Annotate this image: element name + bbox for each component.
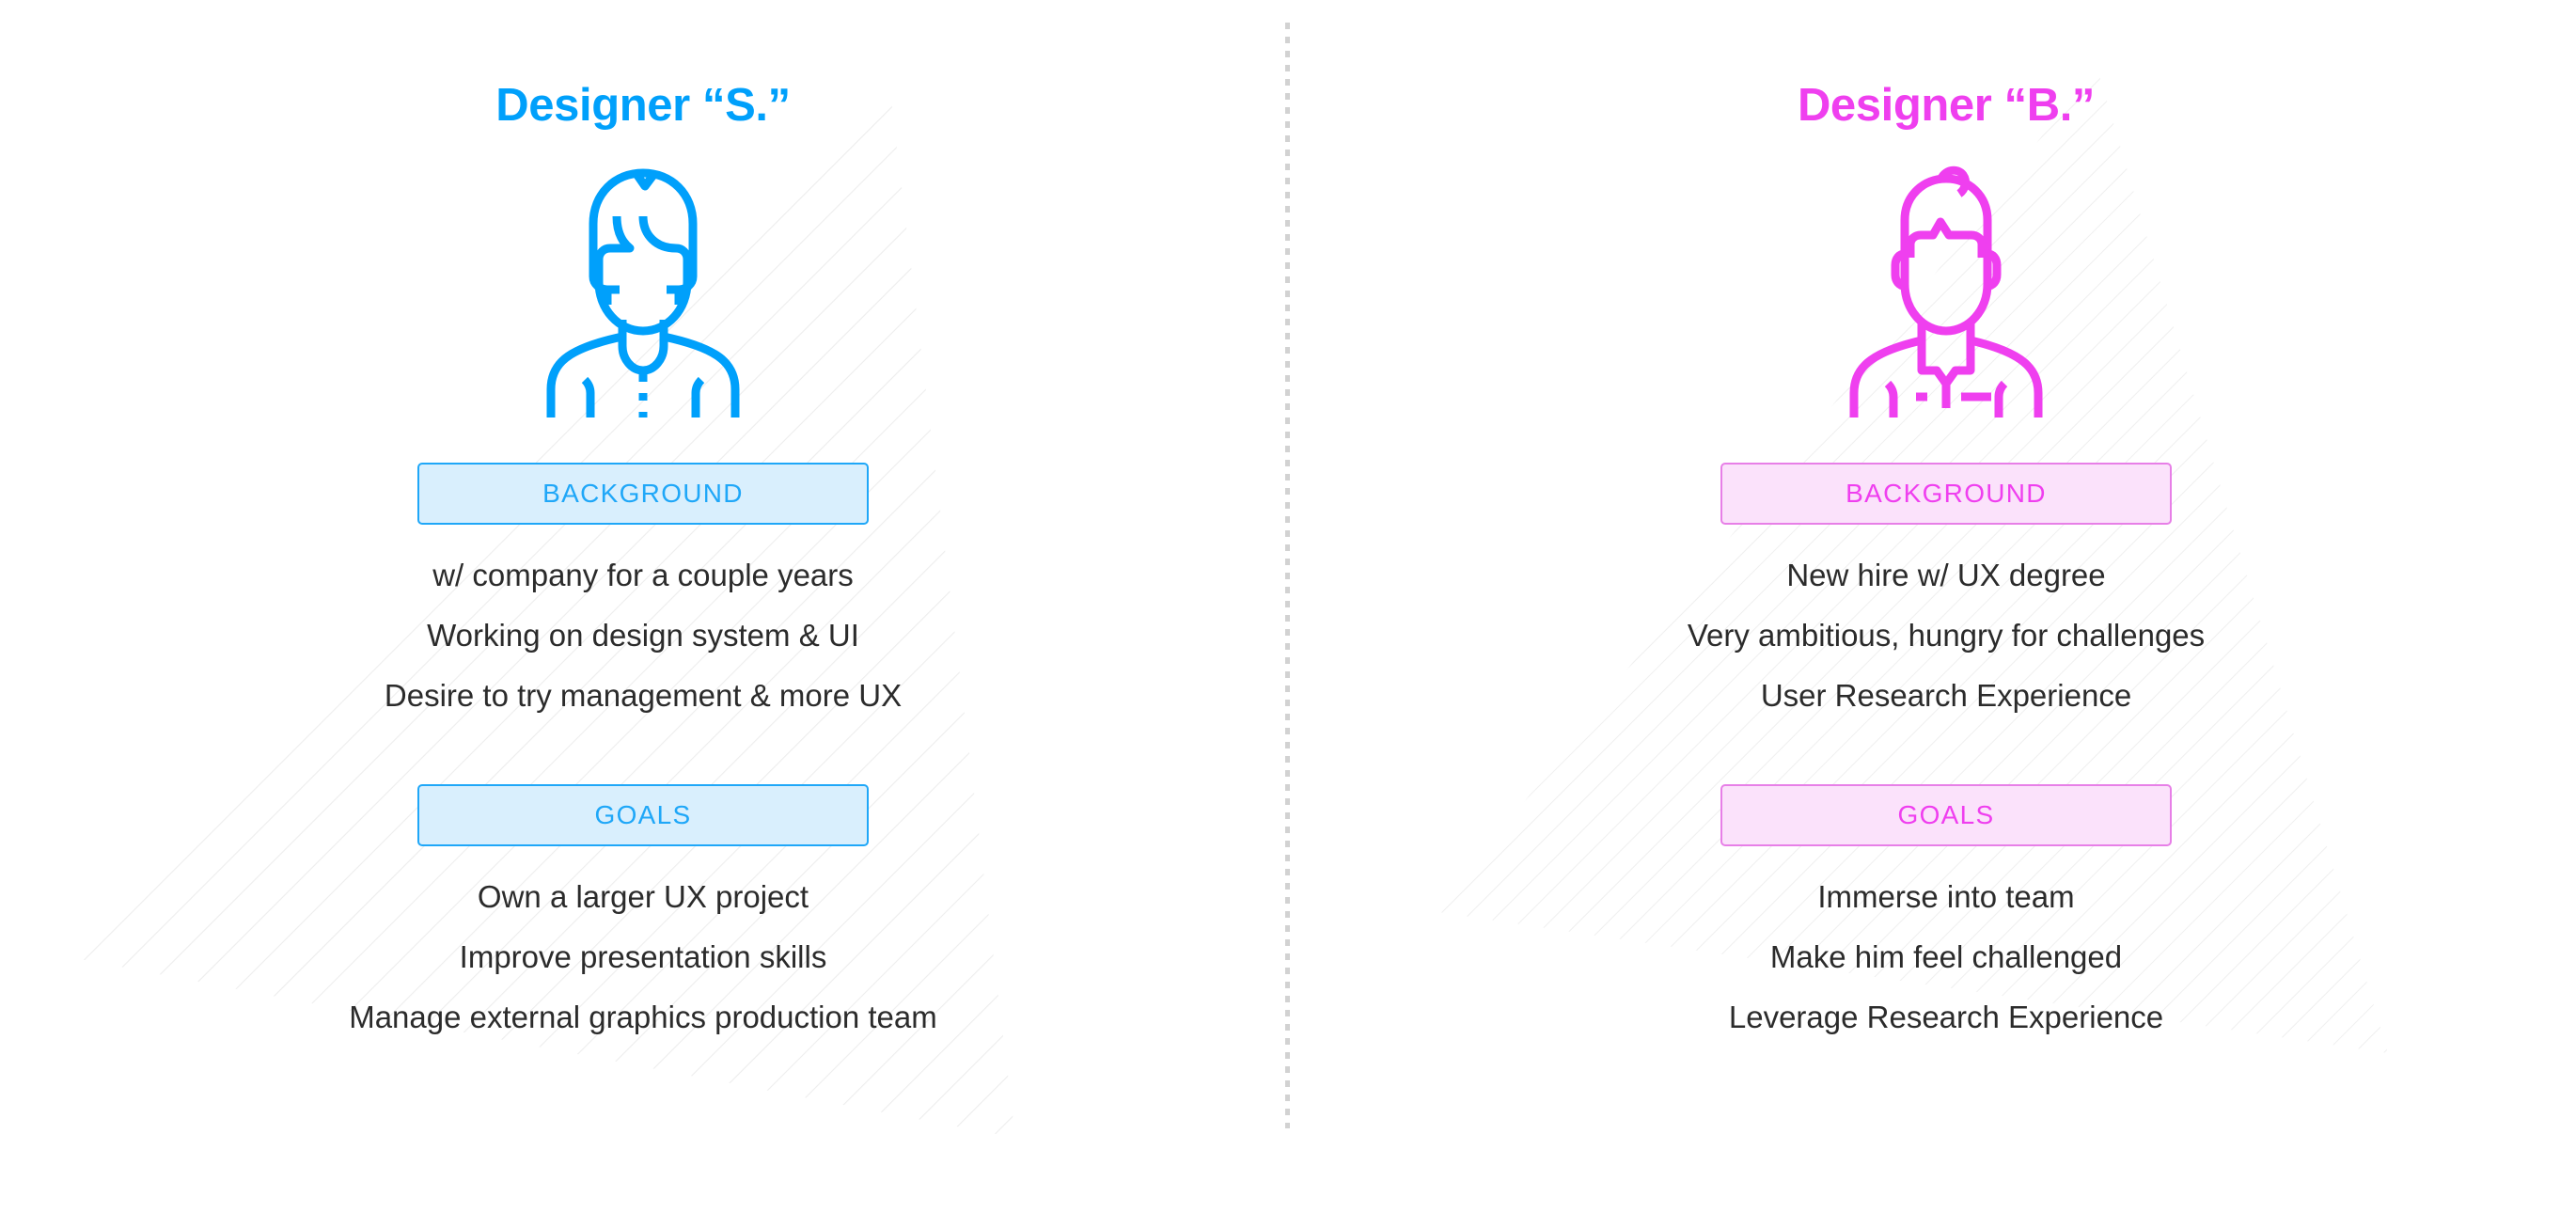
section-chip-label: GOALS [595,800,692,830]
persona-title-designer-b: Designer “B.” [1798,83,2095,129]
list-item: Immerse into team [1817,867,2074,927]
list-item: New hire w/ UX degree [1786,545,2105,606]
persona-column-designer-b: Designer “B.” [1316,0,2576,1213]
goals-list-left: Own a larger UX project Improve presenta… [349,867,937,1048]
list-item: User Research Experience [1761,666,2131,726]
list-item: Desire to try management & more UX [385,666,902,726]
background-list-right: New hire w/ UX degree Very ambitious, hu… [1688,545,2205,726]
list-item: Manage external graphics production team [349,987,937,1048]
goals-list-right: Immerse into team Make him feel challeng… [1729,867,2163,1048]
list-item: Working on design system & UI [427,606,859,666]
section-chip-goals-right: GOALS [1720,784,2172,846]
background-list-left: w/ company for a couple years Working on… [385,545,902,726]
list-item: Improve presentation skills [460,927,827,987]
persona-title-designer-s: Designer “S.” [495,83,790,129]
section-chip-label: GOALS [1898,800,1995,830]
persona-comparison-canvas: Designer “S.” [0,0,2576,1213]
section-chip-goals-left: GOALS [417,784,869,846]
list-item: Very ambitious, hungry for challenges [1688,606,2205,666]
section-chip-label: BACKGROUND [542,479,744,509]
section-chip-label: BACKGROUND [1846,479,2047,509]
list-item: Own a larger UX project [478,867,809,927]
vertical-dotted-divider [1285,23,1290,1128]
list-item: w/ company for a couple years [432,545,854,606]
female-avatar-icon [540,162,746,420]
list-item: Leverage Research Experience [1729,987,2163,1048]
section-chip-background-right: BACKGROUND [1720,463,2172,525]
section-chip-background-left: BACKGROUND [417,463,869,525]
list-item: Make him feel challenged [1770,927,2122,987]
male-avatar-icon [1843,162,2050,420]
persona-column-designer-s: Designer “S.” [13,0,1273,1213]
